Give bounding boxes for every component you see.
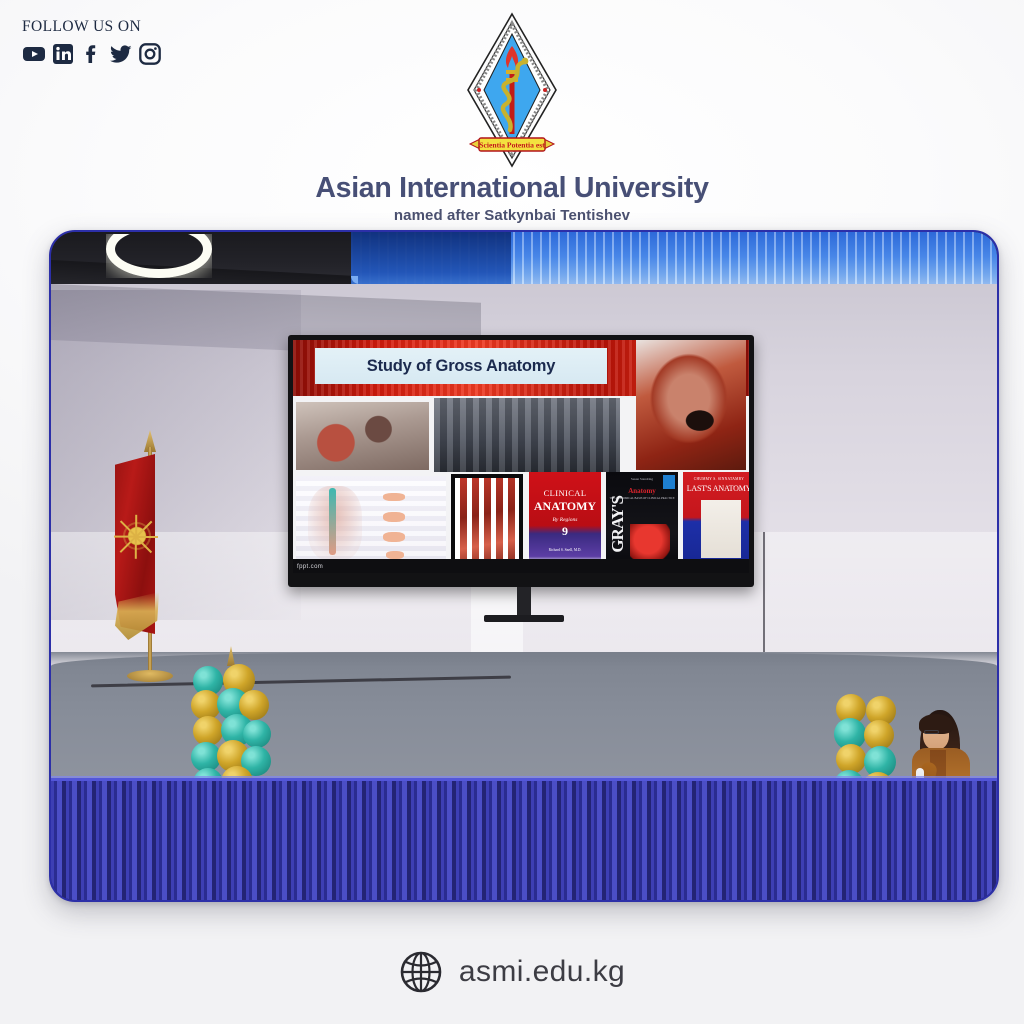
- flag-ray: [135, 537, 137, 559]
- book-cover-lasts-anatomy: CHUMMY S. SINNATAMBY LAST'S ANATOMY: [683, 472, 749, 573]
- book-title-line1: CLINICAL: [529, 488, 601, 498]
- follow-us-label: FOLLOW US ON: [22, 18, 162, 36]
- slide-photo-dissection-lab: [296, 402, 429, 470]
- facebook-icon[interactable]: [80, 42, 104, 66]
- tv-base: [484, 615, 564, 622]
- lasts-title: LAST'S ANATOMY: [683, 484, 749, 493]
- slide-photo-cadaver-head: [636, 340, 746, 470]
- flag-stand-base: [127, 670, 173, 682]
- wall-cable-right: [763, 532, 765, 652]
- crest-motto: Scientia Potentia est: [479, 141, 545, 150]
- stage-skirt: [51, 778, 997, 900]
- diagram-blob-2: [383, 512, 405, 522]
- slide-body: CLINICAL ANATOMY By Regions 9 Richard S.…: [293, 396, 749, 573]
- serpent-head: [522, 58, 529, 65]
- slide-title-box: Study of Gross Anatomy: [315, 348, 607, 384]
- diagram-blob-1: [383, 493, 405, 501]
- slide-photo-anatomy-diagram: [296, 476, 446, 572]
- crest-dot-right: [543, 88, 547, 92]
- book-title-line3: ANATOMY: [529, 499, 601, 514]
- presentation-display: Study of Gross Anatomy: [288, 335, 754, 587]
- slide-photo-anatomy-class: [434, 398, 620, 472]
- globe-icon: [399, 950, 443, 994]
- page-header: FOLLOW US ON: [0, 0, 1024, 228]
- diagram-blob-3: [383, 532, 405, 542]
- diagram-spine: [329, 488, 336, 555]
- slide-footer-band: [293, 559, 749, 573]
- event-photo-card: Study of Gross Anatomy: [49, 230, 999, 902]
- book-edition: 9: [529, 524, 601, 539]
- instagram-icon[interactable]: [138, 42, 162, 66]
- diagram-blob-4: [386, 551, 404, 559]
- website-url: asmi.edu.kg: [459, 955, 625, 989]
- presenter-glasses: [924, 730, 939, 734]
- lasts-author: CHUMMY S. SINNATAMBY: [683, 477, 749, 481]
- book-corner-tab: [663, 475, 675, 489]
- slide-screen: Study of Gross Anatomy: [293, 340, 749, 573]
- lasts-cover-figure: [701, 500, 741, 558]
- book-author: Richard S. Snell, M.D.: [529, 548, 601, 552]
- grays-heart-image: [630, 524, 670, 564]
- page-footer: asmi.edu.kg: [0, 950, 1024, 994]
- tv-stand: [517, 587, 531, 617]
- balloon: [243, 720, 271, 748]
- page-title: Asian International University: [0, 172, 1024, 205]
- twitter-icon[interactable]: [109, 42, 133, 66]
- event-photo: Study of Gross Anatomy: [51, 232, 997, 900]
- slide-watermark: fppt.com: [297, 564, 323, 570]
- linkedin-icon[interactable]: [51, 42, 75, 66]
- youtube-icon[interactable]: [22, 42, 46, 66]
- crest-dot-left: [477, 88, 481, 92]
- university-crest-logo: Scientia Potentia est: [452, 10, 572, 170]
- social-links-row: [22, 42, 162, 66]
- page-subtitle: named after Satkynbai Tentishev: [0, 207, 1024, 224]
- flag-ray: [114, 536, 136, 538]
- flag-ray: [136, 536, 158, 538]
- slide-title: Study of Gross Anatomy: [367, 357, 555, 376]
- crest-svg: Scientia Potentia est: [452, 10, 572, 170]
- follow-us-block: FOLLOW US ON: [22, 18, 162, 66]
- book-title-line2: By Regions: [529, 517, 601, 523]
- book-cover-clinical-anatomy: CLINICAL ANATOMY By Regions 9 Richard S.…: [529, 472, 601, 573]
- book-cover-grays-anatomy: Susan Standring Anatomy THE ANATOMICAL B…: [606, 472, 678, 573]
- muscle-panel-image: [455, 478, 519, 570]
- grays-title: GRAY'S: [608, 496, 628, 553]
